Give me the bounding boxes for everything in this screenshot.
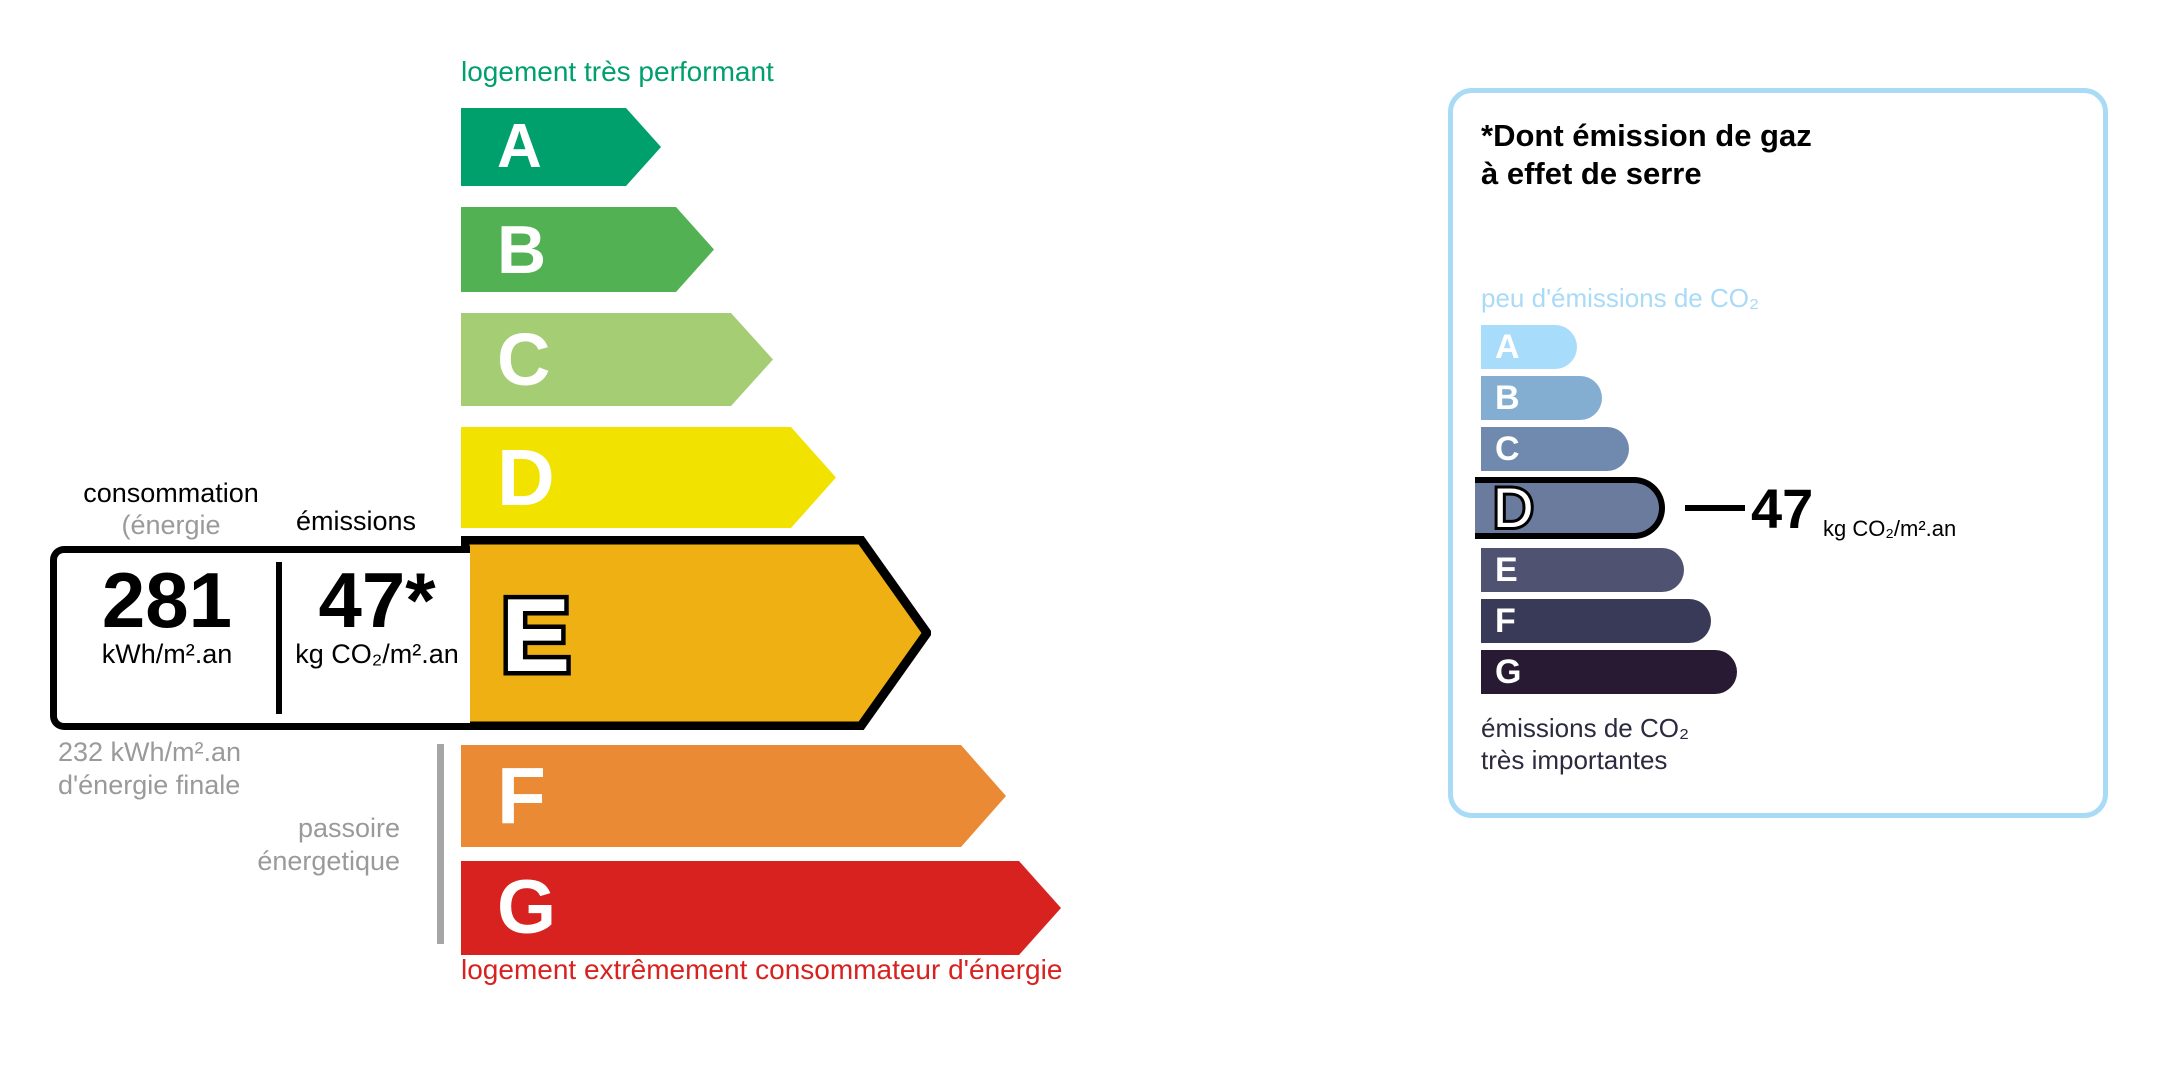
energy-bar-d: D [461, 427, 836, 528]
passoire-line2: énergetique [200, 845, 400, 878]
co2-panel-title: *Dont émission de gaz à effet de serre [1481, 117, 1812, 193]
passoire-note: passoire énergetique [200, 812, 400, 878]
co2-bar-e: E [1481, 548, 1684, 592]
energy-bar-g-letter: G [497, 870, 556, 946]
co2-bar-a: A [1481, 325, 1577, 369]
energy-bar-a-letter: A [497, 116, 542, 178]
co2-bar-c-letter: C [1495, 432, 1520, 466]
energy-bar-f: F [461, 745, 1006, 847]
dpe-label: logement très performant A B C [0, 0, 2169, 1079]
final-energy-line1: 232 kWh/m².an [58, 736, 241, 769]
energy-bar-a: A [461, 108, 661, 186]
energy-bottom-caption: logement extrêmement consommateur d'éner… [461, 954, 1062, 986]
co2-callout-value: 47 [1751, 481, 1813, 537]
co2-callout-line [1685, 505, 1745, 511]
co2-bar-d-letter: D [1493, 480, 1533, 536]
primary-energy-value-cell: 281 kWh/m².an [62, 560, 272, 670]
co2-title-line2: à effet de serre [1481, 155, 1812, 193]
co2-bar-d-selected: D [1475, 477, 1665, 539]
co2-bar-g: G [1481, 650, 1737, 694]
co2-bar-g-letter: G [1495, 655, 1521, 689]
passoire-line1: passoire [200, 812, 400, 845]
energy-bar-b: B [461, 207, 714, 292]
energy-bar-e-letter: E [501, 584, 570, 688]
co2-callout-unit: kg CO₂/m².an [1823, 518, 1956, 540]
primary-energy-value: 281 [62, 560, 272, 642]
final-energy-note: 232 kWh/m².an d'énergie finale [58, 736, 241, 802]
energy-bar-d-letter: D [497, 438, 555, 518]
co2-bar-b: B [1481, 376, 1602, 420]
co2-bar-f-letter: F [1495, 604, 1516, 638]
emission-value-cell: 47* kg CO₂/m².an [286, 560, 468, 670]
co2-top-caption: peu d'émissions de CO₂ [1481, 283, 1759, 314]
passoire-divider [437, 744, 444, 944]
value-box-divider [276, 562, 282, 714]
co2-bottom-line2: très importantes [1481, 745, 1689, 777]
co2-bar-f: F [1481, 599, 1711, 643]
co2-bar-c: C [1481, 427, 1629, 471]
emission-value: 47* [286, 560, 468, 642]
co2-bar-a-letter: A [1495, 330, 1520, 364]
co2-bottom-line1: émissions de CO₂ [1481, 713, 1689, 745]
emission-unit: kg CO₂/m².an [286, 638, 468, 670]
primary-energy-unit: kWh/m².an [62, 638, 272, 670]
energy-bar-c: C [461, 313, 773, 406]
consumption-label: consommation [68, 478, 274, 510]
co2-bottom-caption: émissions de CO₂ très importantes [1481, 713, 1689, 776]
energy-bar-e-selected: E [461, 536, 931, 735]
energy-bar-b-letter: B [497, 216, 546, 284]
energy-bar-g: G [461, 861, 1061, 955]
co2-panel: *Dont émission de gaz à effet de serre p… [1448, 88, 2108, 818]
final-energy-line2: d'énergie finale [58, 769, 241, 802]
energy-bar-c-letter: C [497, 323, 550, 397]
energy-scale-panel: logement très performant A B C [0, 0, 1330, 1079]
energy-bar-f-letter: F [497, 756, 546, 836]
co2-bar-e-letter: E [1495, 553, 1518, 587]
co2-title-line1: *Dont émission de gaz [1481, 117, 1812, 155]
energy-top-caption: logement très performant [461, 56, 774, 88]
emissions-label: émissions [296, 506, 416, 537]
co2-bar-b-letter: B [1495, 381, 1520, 415]
